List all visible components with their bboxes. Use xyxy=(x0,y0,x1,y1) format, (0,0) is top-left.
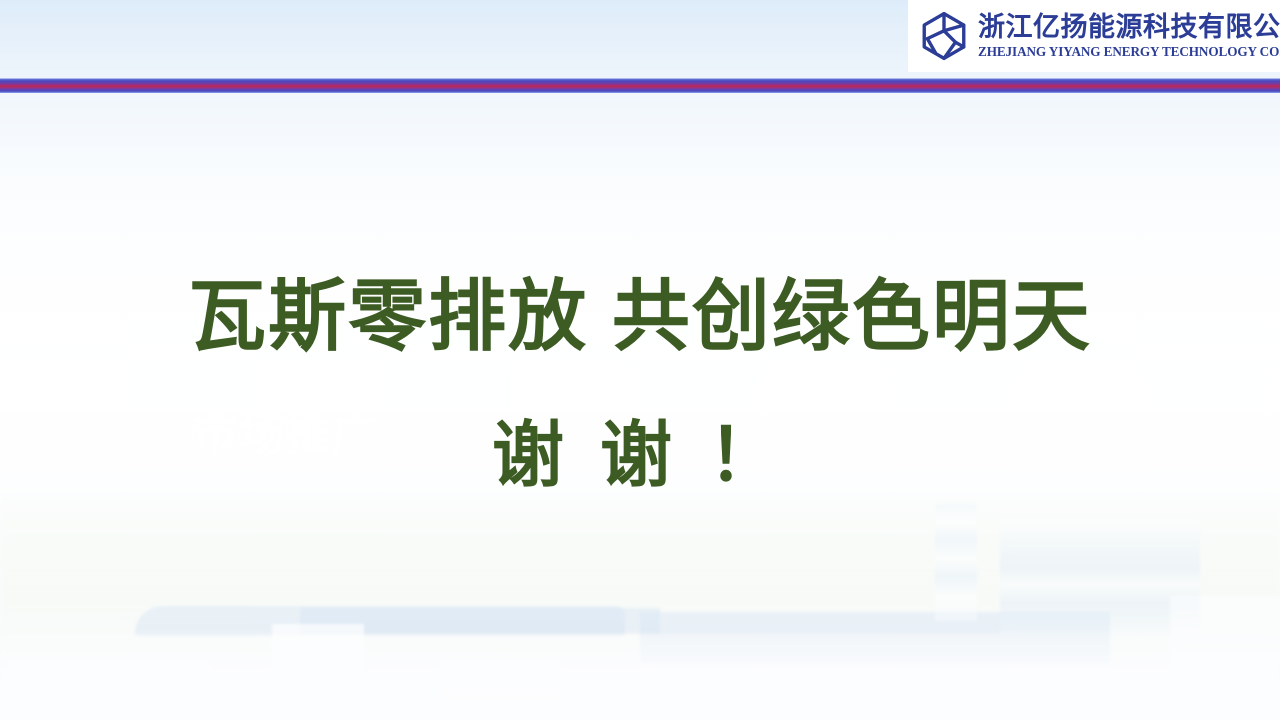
slide-thanks-text: 谢 谢 ！ xyxy=(0,396,1280,501)
company-logo-plate: 浙江亿扬能源科技有限公司 ZHEJIANG YIYANG ENERGY TECH… xyxy=(908,0,1280,72)
company-name-en: ZHEJIANG YIYANG ENERGY TECHNOLOGY CO., L… xyxy=(978,45,1280,58)
hexagon-crystal-logo-icon xyxy=(918,10,970,62)
slide-headline: 瓦斯零排放 共创绿色明天 xyxy=(0,254,1280,366)
header-accent-bar xyxy=(0,78,1280,93)
ground-haze xyxy=(0,634,1280,720)
presentation-slide: 市场推广 浙江亿扬能源科技有限公司 ZHEJIANG YIYANG ENERGY… xyxy=(0,0,1280,720)
company-name-cn: 浙江亿扬能源科技有限公司 xyxy=(978,14,1280,41)
plant-chimney-tower xyxy=(935,504,977,622)
company-name-block: 浙江亿扬能源科技有限公司 ZHEJIANG YIYANG ENERGY TECH… xyxy=(978,14,1280,58)
